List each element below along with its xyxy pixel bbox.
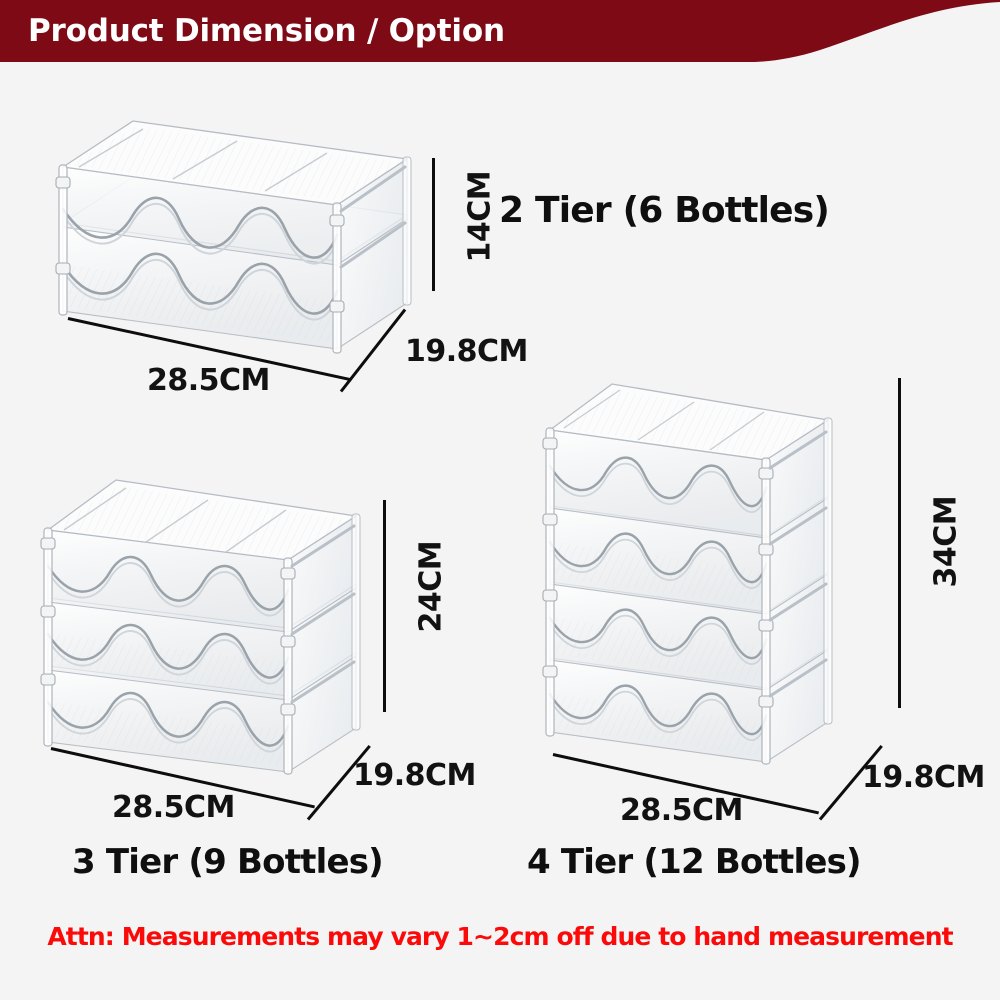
caption-2-tier: 2 Tier (6 Bottles)	[499, 190, 829, 231]
dimension-label-width-2tier: 28.5CM	[147, 363, 270, 398]
caption-3-tier: 3 Tier (9 Bottles)	[72, 842, 383, 882]
dimension-rule-height-4tier	[898, 378, 901, 708]
dimension-label-width-3tier: 28.5CM	[112, 790, 235, 825]
dimension-label-height-2tier: 14CM	[463, 183, 498, 263]
product-image-3-tier	[38, 470, 378, 780]
caption-4-tier: 4 Tier (12 Bottles)	[527, 842, 861, 882]
dimension-label-depth-3tier: 19.8CM	[353, 758, 476, 793]
dimension-rule-height-2tier	[432, 158, 435, 291]
dimension-label-height-4tier: 34CM	[929, 508, 964, 588]
dimension-label-depth-4tier: 19.8CM	[862, 760, 985, 795]
product-image-4-tier	[528, 358, 888, 778]
page-title: Product Dimension / Option	[28, 13, 505, 49]
dimension-label-width-4tier: 28.5CM	[620, 793, 743, 828]
dimension-label-depth-2tier: 19.8CM	[405, 334, 528, 369]
measurement-disclaimer: Attn: Measurements may vary 1~2cm off du…	[0, 922, 1000, 951]
dimension-rule-height-3tier	[383, 500, 386, 712]
dimension-label-height-3tier: 24CM	[414, 553, 449, 633]
